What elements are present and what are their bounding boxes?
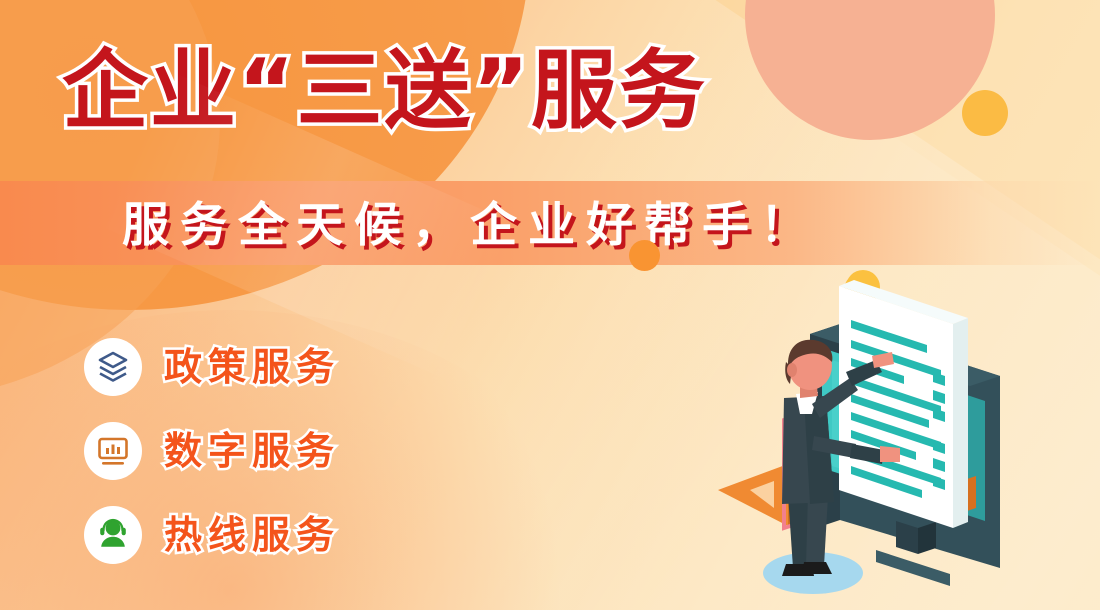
headset-agent-icon [84, 506, 142, 564]
layers-icon [84, 338, 142, 396]
decorative-dot-yellow [962, 90, 1008, 136]
feature-label-hotline: 热线服务 [164, 516, 340, 554]
feature-item-policy[interactable]: 政策服务 [84, 338, 340, 396]
promo-banner: 企业“三送”服务 服务全天候，企业好帮手！ 政策服务 [0, 0, 1100, 610]
document-sheet [839, 280, 968, 528]
decorative-circle-salmon [745, 0, 995, 140]
feature-item-digital[interactable]: 数字服务 [84, 422, 340, 480]
feature-label-digital: 数字服务 [164, 432, 340, 470]
feature-item-hotline[interactable]: 热线服务 [84, 506, 340, 564]
feature-label-policy: 政策服务 [164, 348, 340, 386]
feature-list: 政策服务 数字服务 [84, 338, 340, 564]
hero-illustration [700, 268, 1100, 610]
chart-monitor-icon [84, 422, 142, 480]
subtitle-text: 服务全天候，企业好帮手！ [122, 192, 818, 260]
